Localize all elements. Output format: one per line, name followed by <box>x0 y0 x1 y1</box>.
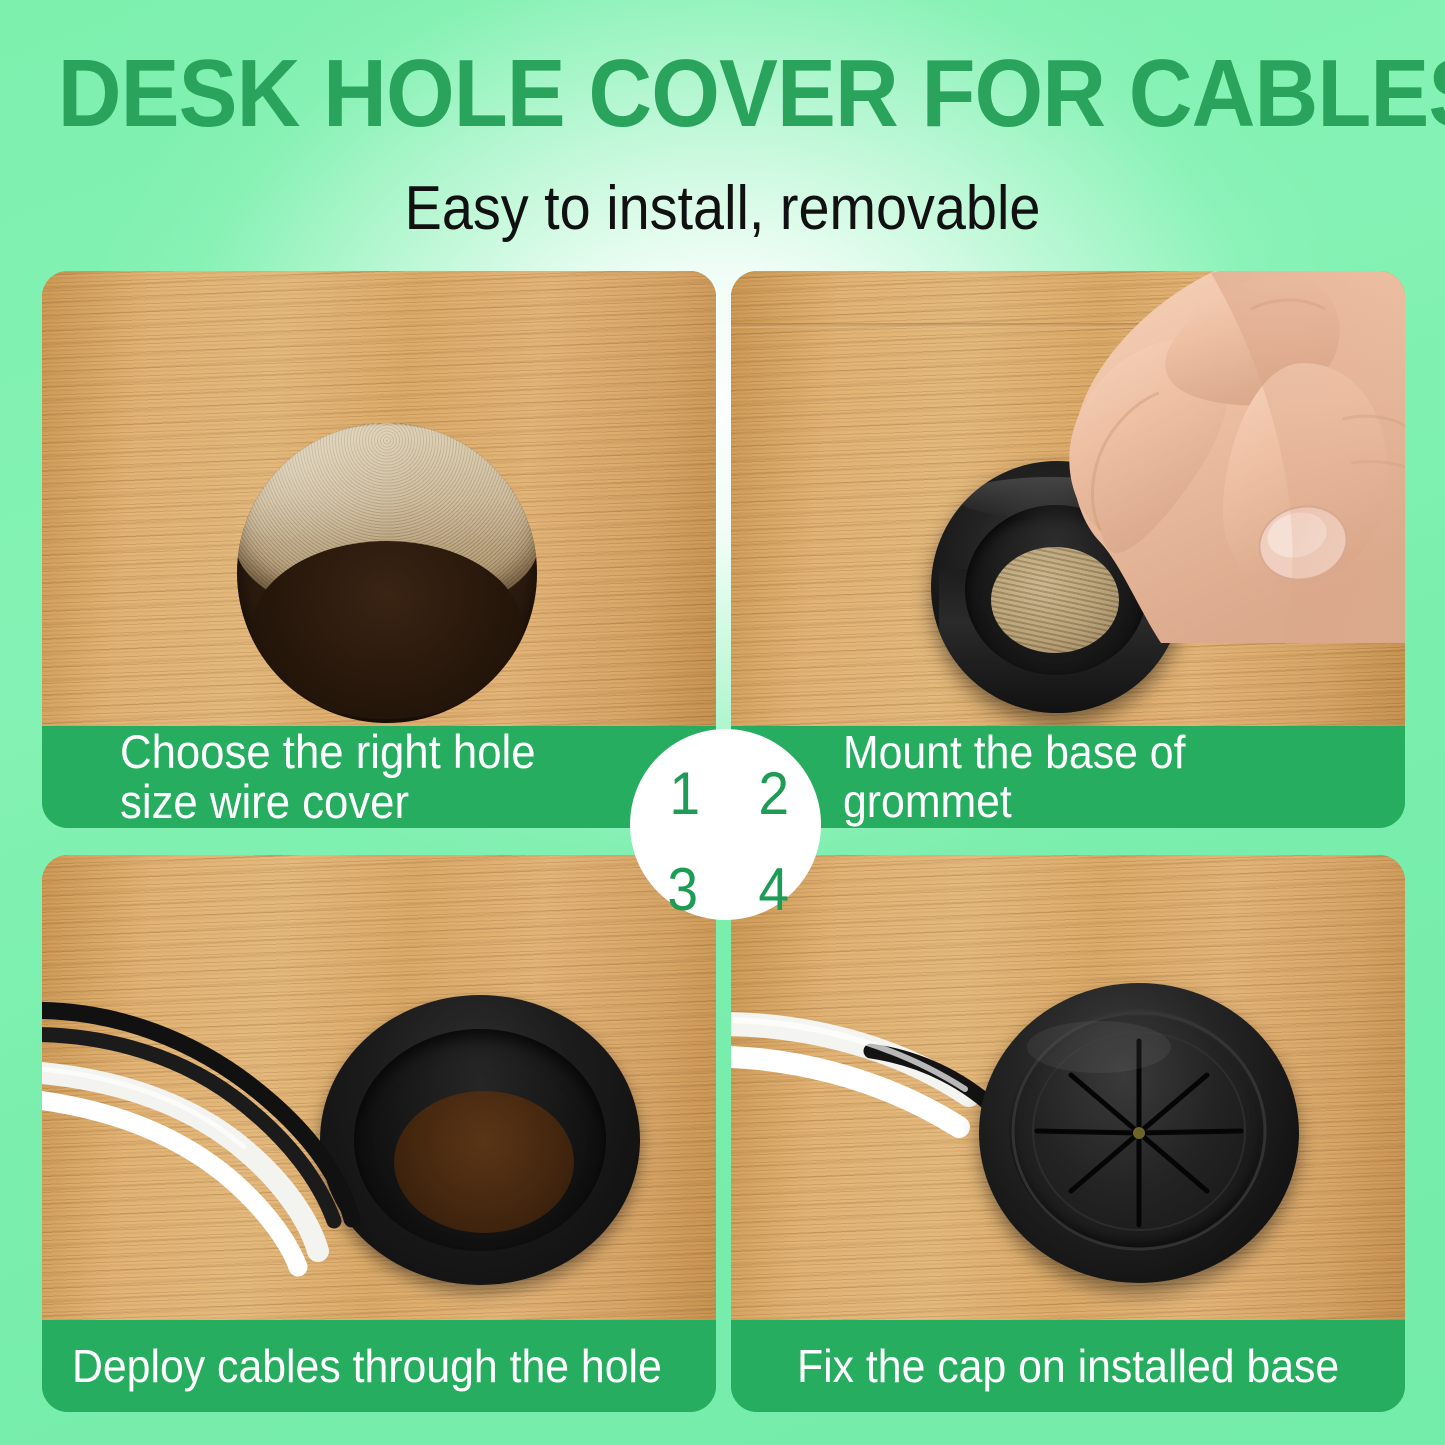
cap-center-hub <box>1133 1127 1145 1139</box>
step-3-photo <box>42 855 716 1320</box>
step-1-photo <box>42 271 716 726</box>
slit-nw <box>1071 1075 1139 1133</box>
title-container: DESK HOLE COVER FOR CABLES <box>0 46 1445 142</box>
cap-top-highlight <box>1027 1021 1171 1073</box>
center-step-badge-circle <box>630 729 821 920</box>
slit-se <box>1139 1133 1207 1191</box>
step-4-photo <box>731 855 1405 1320</box>
step-2-photo <box>731 271 1405 726</box>
subtitle-container: Easy to install, removable <box>0 176 1445 241</box>
step-number-2: 2 <box>758 764 789 824</box>
step-panel-3: Deploy cables through the hole <box>42 855 716 1412</box>
step-1-caption-bar: Choose the right hole size wire cover <box>42 726 716 828</box>
page-subtitle: Easy to install, removable <box>72 176 1373 241</box>
step-panel-4: Fix the cap on installed base <box>731 855 1405 1412</box>
step-4-caption-text: Fix the cap on installed base <box>797 1342 1339 1391</box>
slit-sw <box>1071 1133 1139 1191</box>
product-infographic-poster: DESK HOLE COVER FOR CABLES Easy to insta… <box>0 0 1445 1445</box>
slit-e <box>1139 1131 1241 1133</box>
step-number-1: 1 <box>669 764 700 824</box>
desk-hole <box>237 423 537 723</box>
step-number-3: 3 <box>667 860 698 920</box>
step-2-caption-bar: Mount the base of grommet <box>731 726 1405 828</box>
page-title: DESK HOLE COVER FOR CABLES <box>58 46 1387 142</box>
step-1-caption-text: Choose the right hole size wire cover <box>120 727 536 827</box>
slit-ne <box>1139 1075 1207 1133</box>
cables-group <box>42 975 502 1295</box>
grommet-cap <box>979 983 1299 1283</box>
step-number-4: 4 <box>758 860 789 920</box>
step-panel-2: Mount the base of grommet <box>731 271 1405 828</box>
step-3-caption-bar: Deploy cables through the hole <box>42 1320 716 1412</box>
cap-slits-group <box>979 983 1299 1283</box>
step-3-caption-text: Deploy cables through the hole <box>72 1342 662 1391</box>
step-4-caption-bar: Fix the cap on installed base <box>731 1320 1405 1412</box>
hand-illustration <box>951 271 1405 643</box>
hole-dark-opening <box>251 541 523 719</box>
slit-w <box>1037 1131 1139 1133</box>
step-panel-1: Choose the right hole size wire cover <box>42 271 716 828</box>
step-2-caption-text: Mount the base of grommet <box>843 728 1366 826</box>
